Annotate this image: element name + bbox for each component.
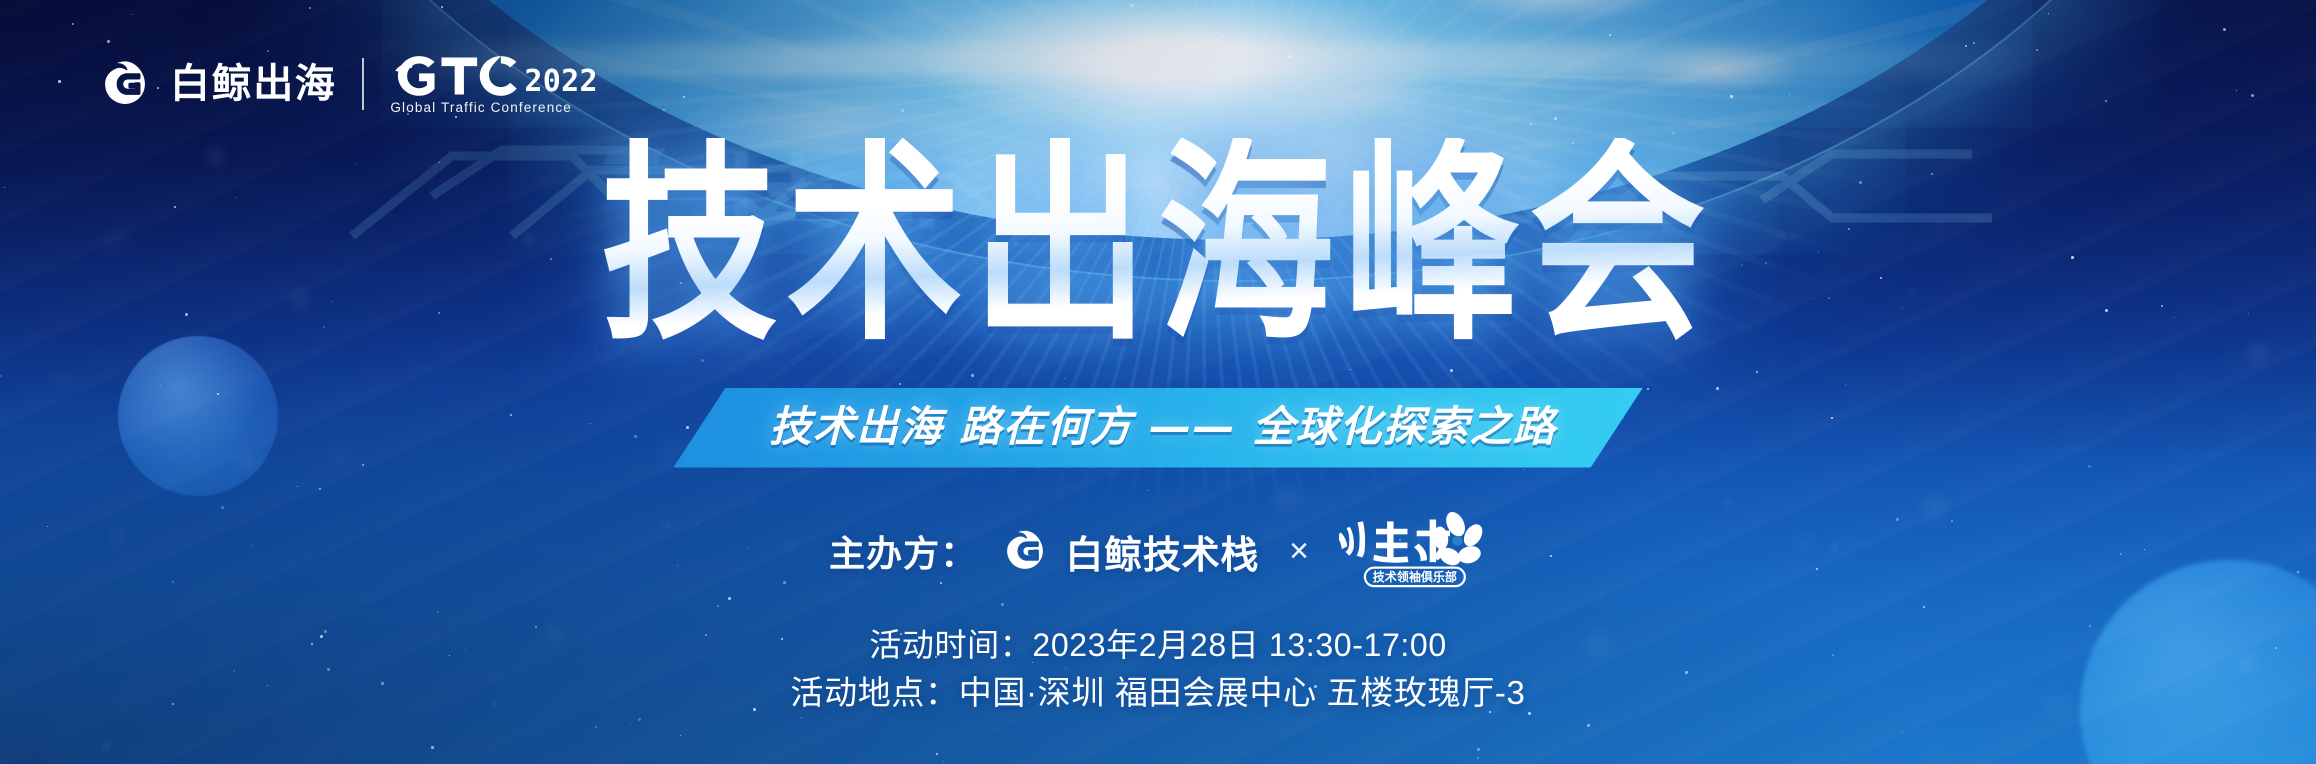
gtc-wordmark-icon [390, 52, 522, 96]
hero-title-block: 技术出海峰会 [0, 138, 2316, 314]
gtc-subtitle-label: Global Traffic Conference [390, 100, 597, 115]
organizer-primary[interactable]: 白鲸技术栈 [999, 524, 1259, 579]
little-red-flower-logo-icon: 技术领袖俱乐部 [1339, 512, 1487, 590]
event-venue-line: 活动地点：中国·深圳 福田会展中心 五楼玫瑰厅-3 [0, 669, 2316, 717]
organizer-primary-label: 白鲸技术栈 [1065, 524, 1259, 579]
hero-subtitle-block: 技术出海 路在何方 —— 全球化探索之路 [0, 388, 2316, 468]
vertical-divider-icon [362, 58, 364, 110]
brand-name-label: 白鲸出海 [170, 64, 336, 104]
gtc-year-label: 2022 [524, 68, 597, 97]
organizer-secondary[interactable]: 技术领袖俱乐部 [1339, 512, 1487, 590]
organizer-secondary-tagline: 技术领袖俱乐部 [1373, 569, 1457, 584]
brand-lockup[interactable]: 白鲸出海 [96, 55, 336, 113]
whale-g-logo-icon [96, 55, 154, 113]
poster-header: 白鲸出海 2022 Global Traffic Conference [96, 52, 598, 115]
organizer-label: 主办方： [829, 525, 977, 577]
hero-subtitle-label: 技术出海 路在何方 —— 全球化探索之路 [769, 402, 1556, 451]
event-time-line: 活动时间：2023年2月28日 13:30-17:00 [0, 622, 2316, 669]
subtitle-banner: 技术出海 路在何方 —— 全球化探索之路 [673, 388, 1642, 468]
organizer-connector-icon: × [1289, 532, 1309, 571]
page-title: 技术出海峰会 [601, 138, 1715, 353]
organizers-row: 主办方： 白鲸技术栈 × [0, 512, 2316, 590]
event-info-block: 活动时间：2023年2月28日 13:30-17:00 活动地点：中国·深圳 福… [0, 622, 2316, 717]
event-poster: 技术出海峰会 白鲸出海 2022 Global Traffic Conferen [0, 0, 2316, 764]
whale-g-logo-icon [999, 525, 1051, 577]
gtc-lockup[interactable]: 2022 Global Traffic Conference [390, 52, 597, 115]
